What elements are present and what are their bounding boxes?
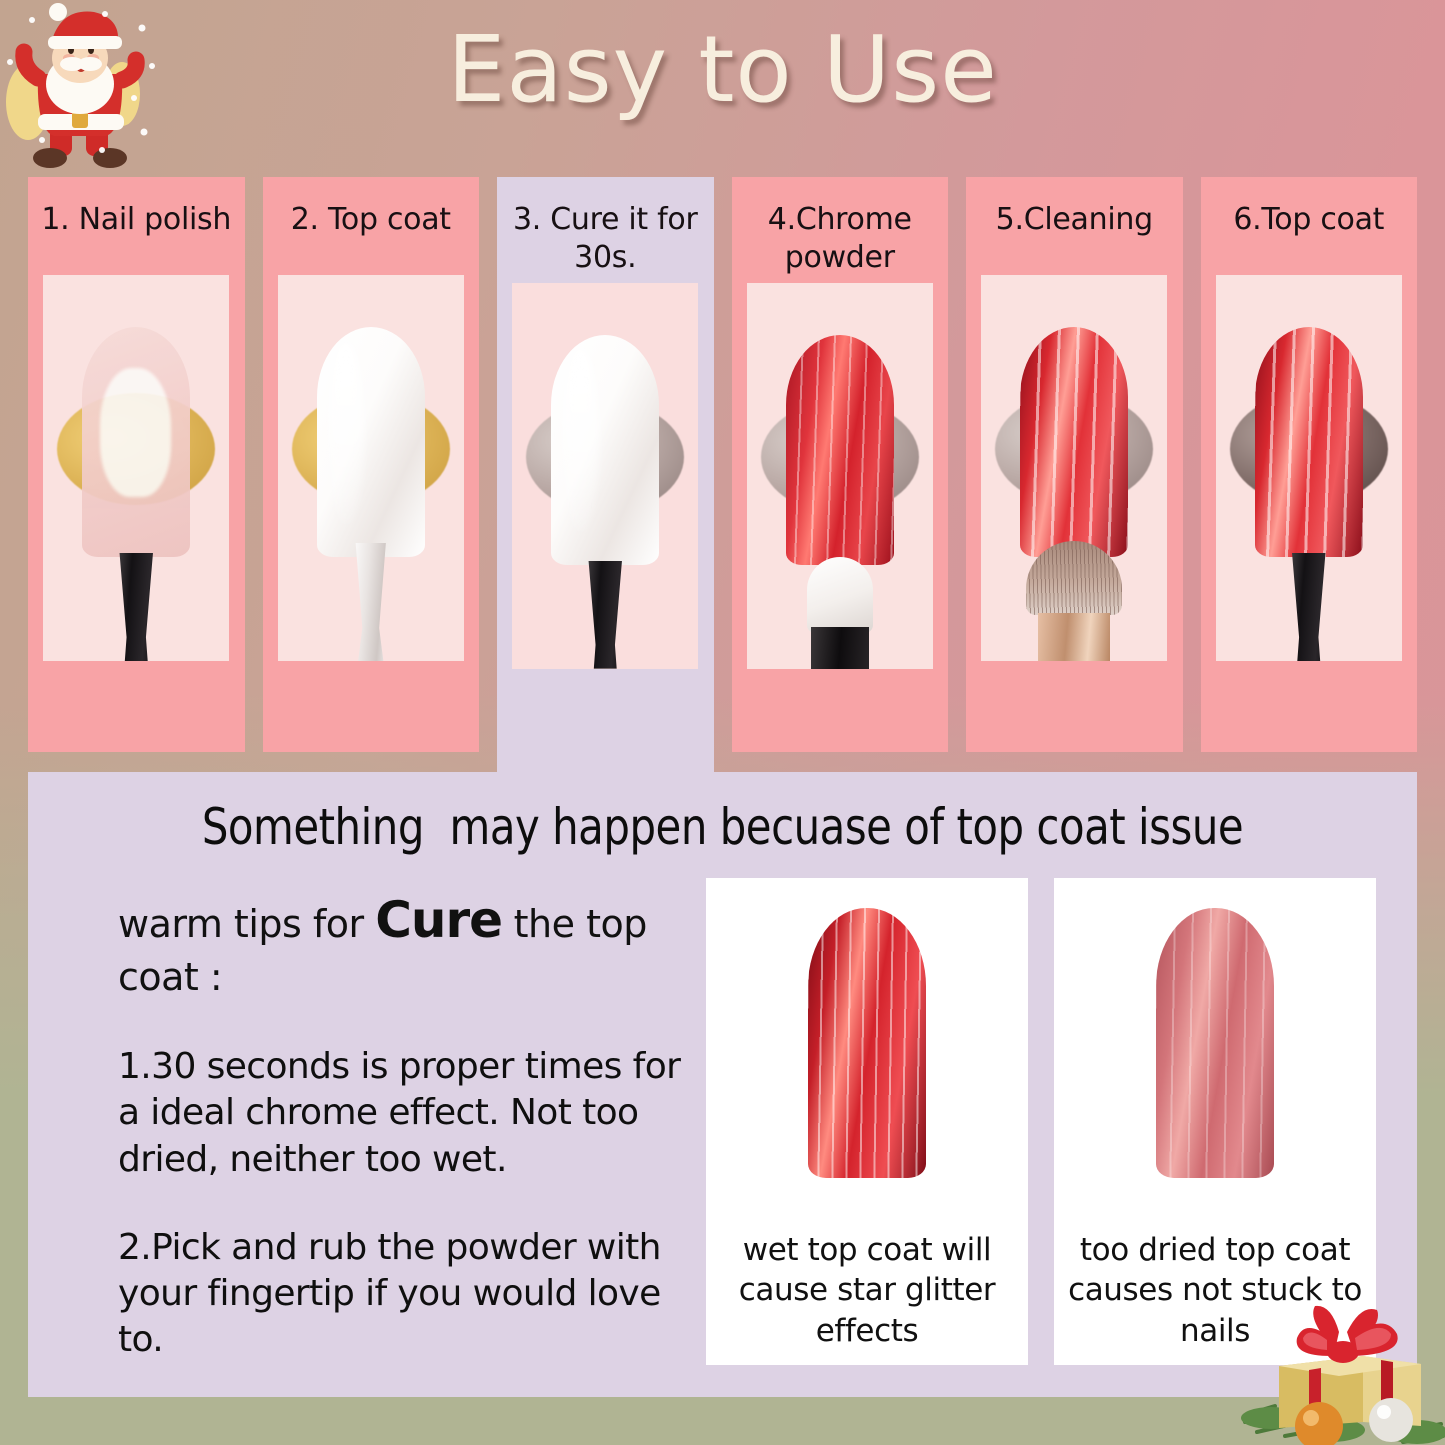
top-coat-issue-panel: Something may happen becuase of top coat… [28,772,1417,1397]
warm-tips-intro: warm tips for Cure the top coat : [118,888,684,1002]
step-label-4: 4.Chrome powder [732,177,949,277]
black-brush-icon [114,553,158,661]
warm-tips-column: warm tips for Cure the top coat : 1.30 s… [54,874,684,1365]
fan-brush-icon [1014,541,1134,661]
step-label-1: 1. Nail polish [35,177,237,269]
step-photo-2 [278,275,464,661]
step-card-4[interactable]: 4.Chrome powder [732,177,949,752]
step-photo-1 [43,275,229,661]
step-photo-6 [1216,275,1402,661]
tips-intro-before: warm tips for [118,902,375,946]
step-card-5[interactable]: 5.Cleaning [966,177,1183,752]
nail-red-glitter-icon [786,335,894,565]
example-caption-wet: wet top coat will cause star glitter eff… [716,1226,1018,1351]
warm-tip-paragraph-1: 1.30 seconds is proper times for a ideal… [118,1044,684,1182]
step-card-2[interactable]: 2. Top coat [263,177,480,752]
step-label-2: 2. Top coat [285,177,457,269]
issue-panel-body: warm tips for Cure the top coat : 1.30 s… [28,856,1417,1365]
step-label-3: 3. Cure it for 30s. [497,177,714,277]
steps-row: 1. Nail polish 2. Top coat 3. Cure it fo… [28,177,1417,752]
step-card-1[interactable]: 1. Nail polish [28,177,245,752]
black-brush-icon [1287,553,1331,661]
issue-heading: Something may happen becuase of top coat… [77,772,1369,856]
page-title: Easy to Use [0,22,1445,119]
nail-red-chrome-icon [1020,327,1128,557]
black-brush-icon [583,561,627,669]
step-card-6[interactable]: 6.Top coat [1201,177,1418,752]
example-photo-wet [716,896,1018,1226]
white-brush-icon [350,543,392,661]
step-label-5: 5.Cleaning [990,177,1159,269]
step-photo-5 [981,275,1167,661]
warm-tip-paragraph-2: 2.Pick and rub the powder with your fing… [118,1225,684,1363]
step-photo-3 [512,283,698,669]
santa-claus-icon [2,2,167,174]
step-label-6: 6.Top coat [1227,177,1390,269]
nail-red-star-glitter-icon [808,908,926,1178]
nail-red-dull-chrome-icon [1156,908,1274,1178]
nail-white-icon [551,335,659,565]
christmas-gift-icon [1235,1260,1445,1445]
example-card-wet-top-coat[interactable]: wet top coat will cause star glitter eff… [706,878,1028,1365]
step-card-3[interactable]: 3. Cure it for 30s. [497,177,714,777]
nail-clear-icon [82,327,190,557]
nail-white-icon [317,327,425,557]
example-photo-dried [1064,896,1366,1226]
powder-applicator-icon [807,557,873,669]
tips-intro-emphasis: Cure [375,891,502,949]
step-photo-4 [747,283,933,669]
nail-red-chrome-icon [1255,327,1363,557]
